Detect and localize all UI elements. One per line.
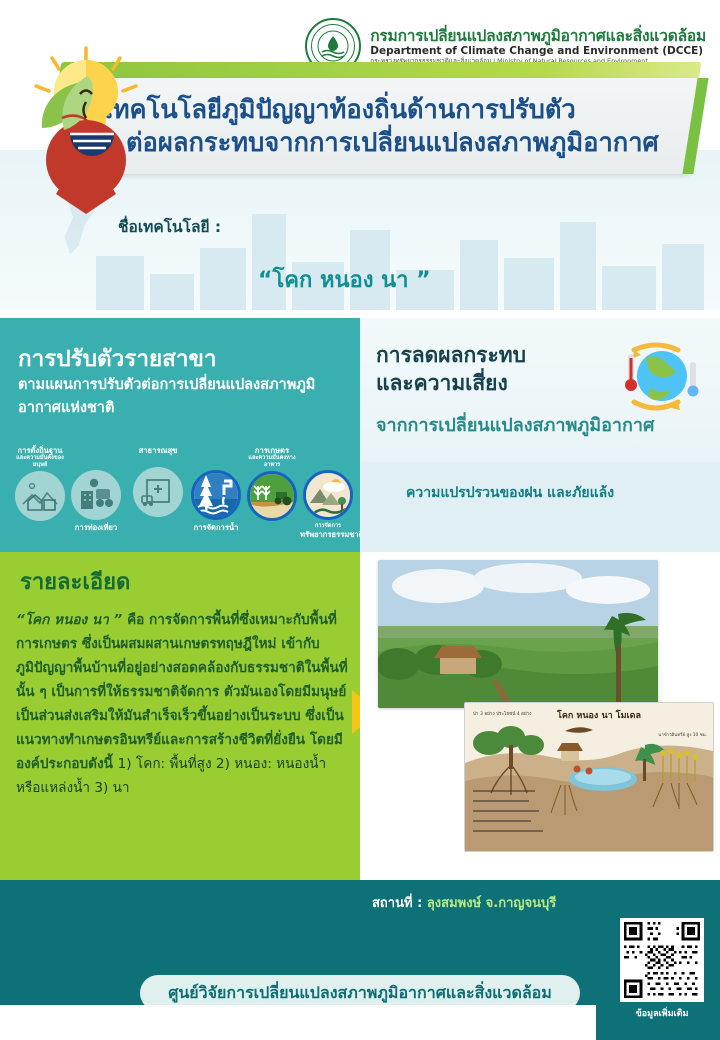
farm-landscape-photo [378, 560, 658, 708]
ribbon-top-accent [59, 62, 702, 79]
mitigation-heading: การลดผลกระทบ [376, 342, 526, 370]
technology-label: ชื่อเทคโนโลยี : [118, 214, 221, 239]
detail-heading: รายละเอียด [20, 564, 130, 599]
public-health-icon [133, 467, 183, 517]
sector-icon-row: การตั้งถิ่นฐาน และความมั่นคงของมนุษย์ [6, 446, 360, 546]
risk-text: ความแปรปรวนของฝน และภัยแล้ง [406, 482, 614, 504]
natural-resources-icon [303, 470, 353, 520]
sector-settlement[interactable]: การตั้งถิ่นฐาน และความมั่นคงของมนุษย์ [12, 446, 68, 521]
footer-bottom-white [0, 1005, 596, 1040]
sector-agriculture-sublabel: และความมั่นคงทางอาหาร [244, 455, 300, 468]
sector-tourism-label: การท่องเที่ยว [75, 523, 118, 532]
mitigation-heading-line-1: การลดผลกระทบ [376, 342, 526, 370]
diagram-title: โคก หนอง นา โมเดล [557, 708, 641, 722]
sector-settlement-label: การตั้งถิ่นฐาน [17, 446, 62, 455]
panel-wave-decoration [360, 462, 720, 552]
adaptation-subheading: ตามแผนการปรับตัวต่อการเปลี่ยนแปลงสภาพภูม… [18, 374, 348, 420]
detail-body-text: คือ การจัดการพื้นที่ซึ่งเหมาะกับพื้นที่ก… [16, 612, 348, 772]
sector-agriculture[interactable]: การเกษตร และความมั่นคงทางอาหาร [244, 446, 300, 521]
globe-thermometer-icon [612, 336, 702, 418]
settlement-icon [15, 471, 65, 521]
mitigation-panel: การลดผลกระทบ และความเสี่ยง จากการเปลี่ยน… [360, 318, 720, 552]
qr-code-icon[interactable] [620, 918, 704, 1002]
lightbulb-leaf-pin-icon [22, 42, 150, 220]
mitigation-heading-line-2: และความเสี่ยง [376, 370, 508, 398]
org-name-english: Department of Climate Change and Environ… [370, 45, 706, 57]
tourism-icon [71, 470, 121, 520]
sector-tourism[interactable]: การท่องเที่ยว [68, 470, 124, 532]
sector-natural-resources-label: การจัดการ [300, 523, 356, 530]
diagram-note-right: นาข้าวอินทรีย์ สูง 10 ซม. [658, 731, 707, 738]
khok-nong-na-model-diagram: โคก หนอง นา โมเดล ป่า 3 อย่าง ประโยชน์ 4… [464, 702, 714, 852]
title-line-1: เทคโนโลยีภูมิปัญญาท้องถิ่นด้านการปรับตัว [104, 94, 684, 127]
org-name-thai: กรมการเปลี่ยนแปลงสภาพภูมิอากาศและสิ่งแวด… [370, 27, 706, 45]
diagram-note-left: ป่า 3 อย่าง ประโยชน์ 4 อย่าง [473, 711, 531, 718]
detail-body: “โคก หนอง นา ” คือ การจัดการพื้นที่ซึ่งเ… [16, 608, 348, 800]
location-label: สถานที่ : [372, 896, 422, 911]
media-panel: โคก หนอง นา โมเดล ป่า 3 อย่าง ประโยชน์ 4… [360, 552, 720, 922]
detail-panel: รายละเอียด “โคก หนอง นา ” คือ การจัดการพ… [0, 552, 360, 922]
qr-caption: ข้อมูลเพิ่มเติม [620, 1006, 704, 1020]
location-line: สถานที่ : ลุงสมพงษ์ จ.กาญจนบุรี [372, 892, 556, 913]
title-line-2: ต่อผลกระทบจากการเปลี่ยนแปลงสภาพภูมิอากาศ [104, 127, 684, 160]
agriculture-icon [247, 471, 297, 521]
poster-title: เทคโนโลยีภูมิปัญญาท้องถิ่นด้านการปรับตัว… [104, 84, 684, 170]
sector-public-health[interactable]: สาธารณสุข [130, 446, 186, 517]
sector-natural-resources[interactable]: การจัดการ ทรัพยากรธรรมชาติ [300, 470, 356, 539]
sector-settlement-sublabel: และความมั่นคงของมนุษย์ [12, 455, 68, 468]
sector-water-label: การจัดการน้ำ [194, 523, 239, 532]
research-center-name: ศูนย์วิจัยการเปลี่ยนแปลงสภาพภูมิอากาศและ… [168, 981, 552, 1006]
sector-public-health-label: สาธารณสุข [139, 446, 178, 455]
mitigation-heading-line-2-wrap: และความเสี่ยง [376, 370, 508, 398]
adaptation-panel: การปรับตัวรายสาขา ตามแผนการปรับตัวต่อการ… [0, 318, 360, 552]
adaptation-heading: การปรับตัวรายสาขา [18, 340, 217, 376]
sector-agriculture-label: การเกษตร [255, 446, 289, 455]
poster-header: กรมการเปลี่ยนแปลงสภาพภูมิอากาศและสิ่งแวด… [0, 0, 720, 310]
sector-water-management[interactable]: การจัดการน้ำ [188, 470, 244, 532]
technology-name: “โคก หนอง นา ” [258, 262, 431, 297]
detail-quoted-name: “โคก หนอง นา ” [16, 612, 122, 628]
location-value: ลุงสมพงษ์ จ.กาญจนบุรี [427, 896, 556, 911]
sector-natural-resources-sublabel: ทรัพยากรธรรมชาติ [300, 530, 364, 539]
water-management-icon [191, 470, 241, 520]
